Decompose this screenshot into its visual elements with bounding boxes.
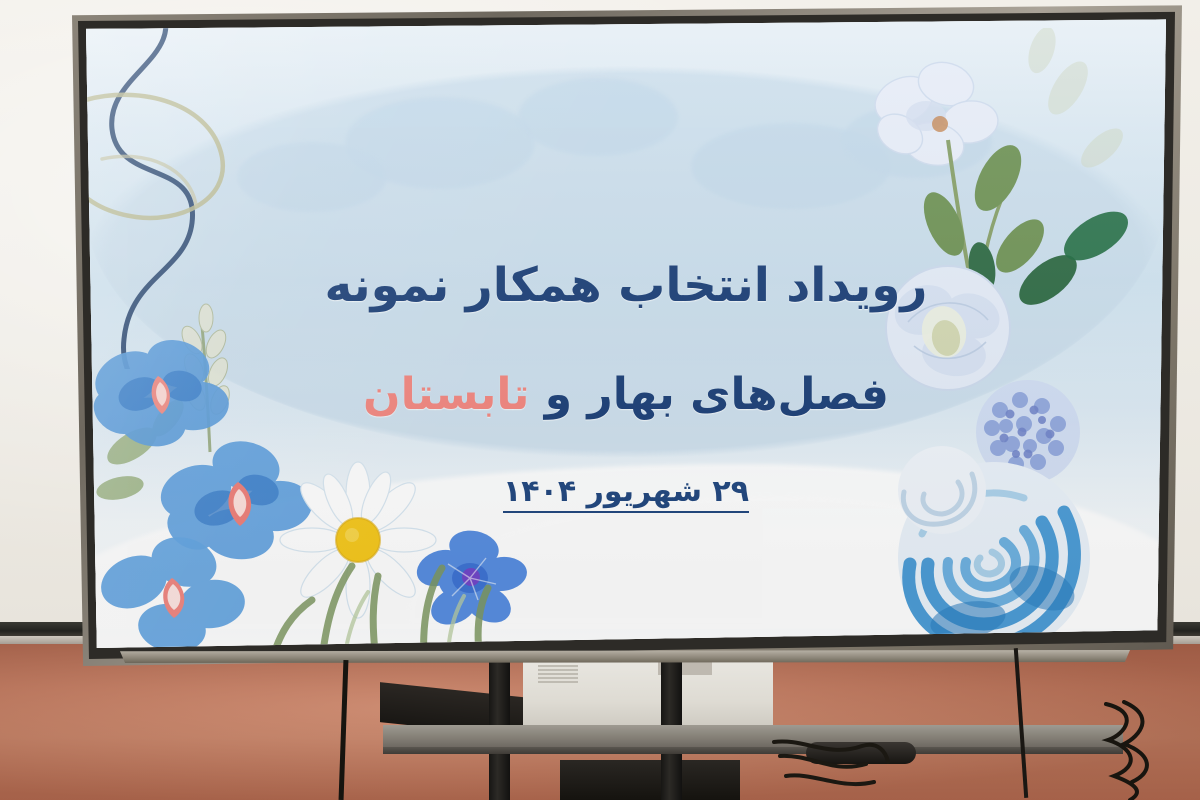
equipment-vent-icon — [538, 665, 578, 683]
stand-top-bar — [120, 650, 1130, 663]
flat-panel-display[interactable]: رویداد انتخاب همکار نمونه فصل‌های بهار و… — [72, 2, 1182, 666]
slide-text-block: رویداد انتخاب همکار نمونه فصل‌های بهار و… — [86, 15, 1166, 648]
slide-date: ۲۹ شهریور ۱۴۰۴ — [503, 474, 749, 513]
slide-title-line-2: فصل‌های بهار و تابستان — [363, 369, 889, 420]
cable-bundle — [770, 736, 890, 800]
cable-coil — [1100, 700, 1170, 800]
presentation-slide: رویداد انتخاب همکار نمونه فصل‌های بهار و… — [86, 15, 1166, 648]
dark-table-below — [560, 760, 740, 800]
stand-shelf-edge — [383, 747, 1123, 754]
slide-title-line-2-prefix: فصل‌های بهار و — [529, 369, 889, 420]
classroom-scene: رویداد انتخاب همکار نمونه فصل‌های بهار و… — [0, 0, 1200, 800]
slide-title-accent-summer: تابستان — [363, 369, 529, 420]
slide-title-line-1: رویداد انتخاب همکار نمونه — [325, 258, 928, 313]
display-screen[interactable]: رویداد انتخاب همکار نمونه فصل‌های بهار و… — [86, 15, 1166, 648]
